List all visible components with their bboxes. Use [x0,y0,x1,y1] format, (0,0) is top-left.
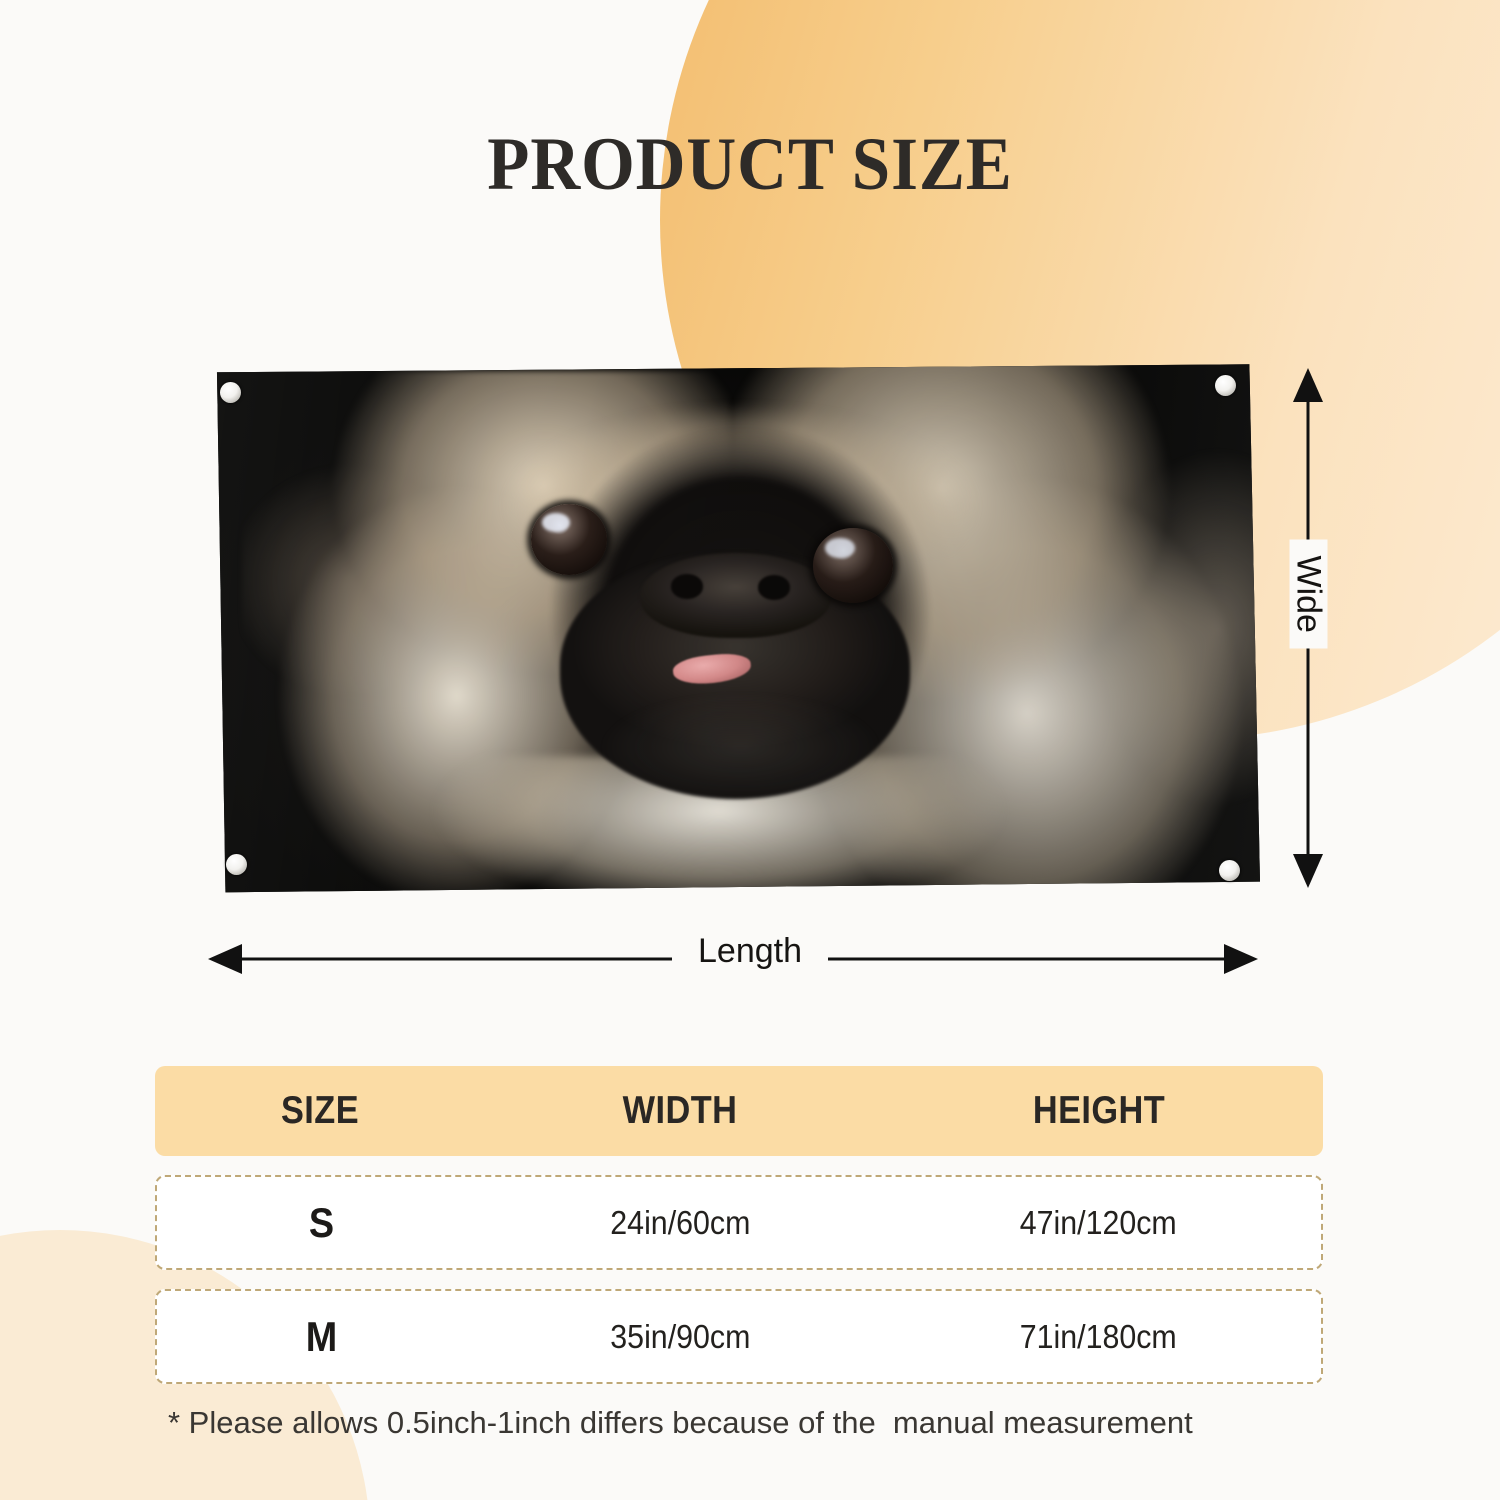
dog-eye-right [813,528,894,603]
dog-nose [640,553,831,639]
size-table: SIZE WIDTH HEIGHT S 24in/60cm 47in/120cm… [155,1066,1323,1384]
length-label: Length [0,932,1500,971]
column-header-size: SIZE [175,1089,465,1133]
grommet-top-right [1215,375,1236,396]
measurement-footnote: * Please allows 0.5inch-1inch differs be… [168,1405,1193,1441]
grommet-bottom-right [1219,860,1240,881]
cell-width: 35in/90cm [501,1318,859,1356]
table-row[interactable]: M 35in/90cm 71in/180cm [155,1289,1323,1384]
size-table-header-row: SIZE WIDTH HEIGHT [155,1066,1323,1156]
grommet-bottom-left [226,854,247,875]
cell-width: 24in/60cm [501,1204,859,1242]
wide-label-text: Wide [1290,540,1328,649]
wide-label: Wide [1289,540,1328,612]
grommet-top-left [220,382,241,403]
page-title: PRODUCT SIZE [60,122,1440,208]
product-size-infographic: PRODUCT SIZE [0,0,1500,1500]
dog-eye-left [531,504,607,575]
column-header-width: WIDTH [508,1089,851,1133]
column-header-height: HEIGHT [902,1089,1296,1133]
length-label-text: Length [672,932,828,970]
dog-whiskers [518,670,963,863]
table-row[interactable]: S 24in/60cm 47in/120cm [155,1175,1323,1270]
dog-eye-highlight-left [542,513,570,532]
cell-height: 47in/120cm [892,1204,1303,1242]
cell-size: S [173,1199,469,1247]
dog-nostril-left [671,574,704,599]
cell-size: M [173,1313,469,1361]
banner-surface [200,360,1260,895]
dog-nostril-right [758,575,791,600]
cell-height: 71in/180cm [892,1318,1303,1356]
dog-eye-highlight-right [825,538,855,558]
product-banner-preview [200,360,1260,895]
